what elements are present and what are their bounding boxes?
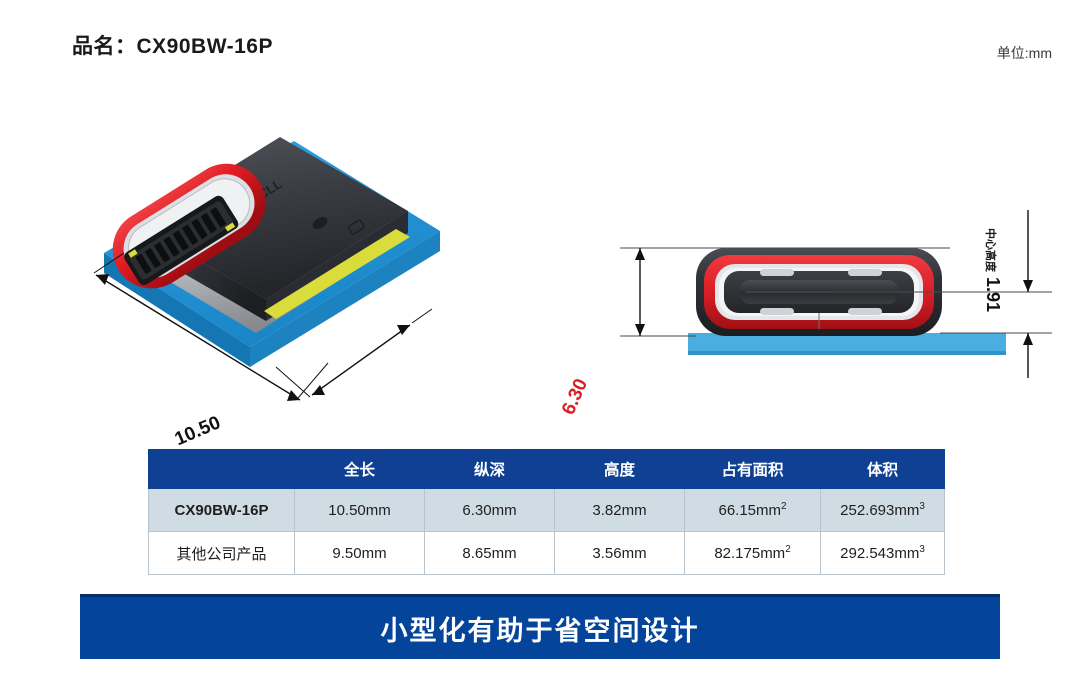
row-height: 3.56mm bbox=[555, 532, 685, 575]
row-length: 9.50mm bbox=[295, 532, 425, 575]
center-height-annotation: 中心高度 1.91 bbox=[982, 228, 1003, 312]
isometric-connector-drawing: YMCLL bbox=[80, 105, 560, 435]
row-height: 3.82mm bbox=[555, 489, 685, 532]
row-volume-value: 292.543mm bbox=[840, 545, 919, 562]
row-depth: 6.30mm bbox=[425, 489, 555, 532]
row-volume: 252.693mm3 bbox=[821, 489, 945, 532]
center-height-value: 1.91 bbox=[982, 277, 1003, 312]
row-volume-exponent: 3 bbox=[919, 544, 925, 555]
table-header-row: 全长 纵深 高度 占有面积 体积 bbox=[149, 450, 945, 489]
table-row: 其他公司产品 9.50mm 8.65mm 3.56mm 82.175mm2 29… bbox=[149, 532, 945, 575]
row-area-value: 66.15mm bbox=[718, 502, 781, 519]
banner-text: 小型化有助于省空间设计 bbox=[381, 609, 700, 648]
center-height-label: 中心高度 bbox=[983, 228, 999, 272]
datasheet-page: 品名：CX90BW-16P 单位:mm bbox=[0, 0, 1080, 685]
row-volume-exponent: 3 bbox=[919, 501, 925, 512]
row-area: 82.175mm2 bbox=[685, 532, 821, 575]
spec-comparison-table: 全长 纵深 高度 占有面积 体积 CX90BW-16P 10.50mm 6.30… bbox=[148, 449, 945, 575]
table-header: 全长 纵深 高度 占有面积 体积 bbox=[149, 450, 945, 489]
table-header-depth: 纵深 bbox=[425, 450, 555, 489]
table-header-area: 占有面积 bbox=[685, 450, 821, 489]
row-area: 66.15mm2 bbox=[685, 489, 821, 532]
table-header-corner bbox=[149, 450, 295, 489]
row-area-exponent: 2 bbox=[785, 544, 791, 555]
bottom-banner: 小型化有助于省空间设计 bbox=[80, 594, 1000, 659]
table-header-volume: 体积 bbox=[821, 450, 945, 489]
isometric-product-view: YMCLL bbox=[80, 105, 560, 435]
row-volume: 292.543mm3 bbox=[821, 532, 945, 575]
table-header-height: 高度 bbox=[555, 450, 685, 489]
row-volume-value: 252.693mm bbox=[840, 502, 919, 519]
table-row: CX90BW-16P 10.50mm 6.30mm 3.82mm 66.15mm… bbox=[149, 489, 945, 532]
dimension-line-center-height bbox=[1023, 210, 1033, 378]
table-header-length: 全长 bbox=[295, 450, 425, 489]
unit-label: 单位:mm bbox=[997, 43, 1052, 63]
page-title: 品名：CX90BW-16P bbox=[72, 30, 273, 60]
row-length: 10.50mm bbox=[295, 489, 425, 532]
row-area-value: 82.175mm bbox=[714, 545, 785, 562]
dimension-line-height bbox=[635, 248, 645, 336]
row-product-name: 其他公司产品 bbox=[149, 532, 295, 575]
table-body: CX90BW-16P 10.50mm 6.30mm 3.82mm 66.15mm… bbox=[149, 489, 945, 575]
row-product-name: CX90BW-16P bbox=[149, 489, 295, 532]
row-area-exponent: 2 bbox=[781, 501, 787, 512]
row-depth: 8.65mm bbox=[425, 532, 555, 575]
dimension-label-depth: 6.30 bbox=[558, 376, 593, 419]
